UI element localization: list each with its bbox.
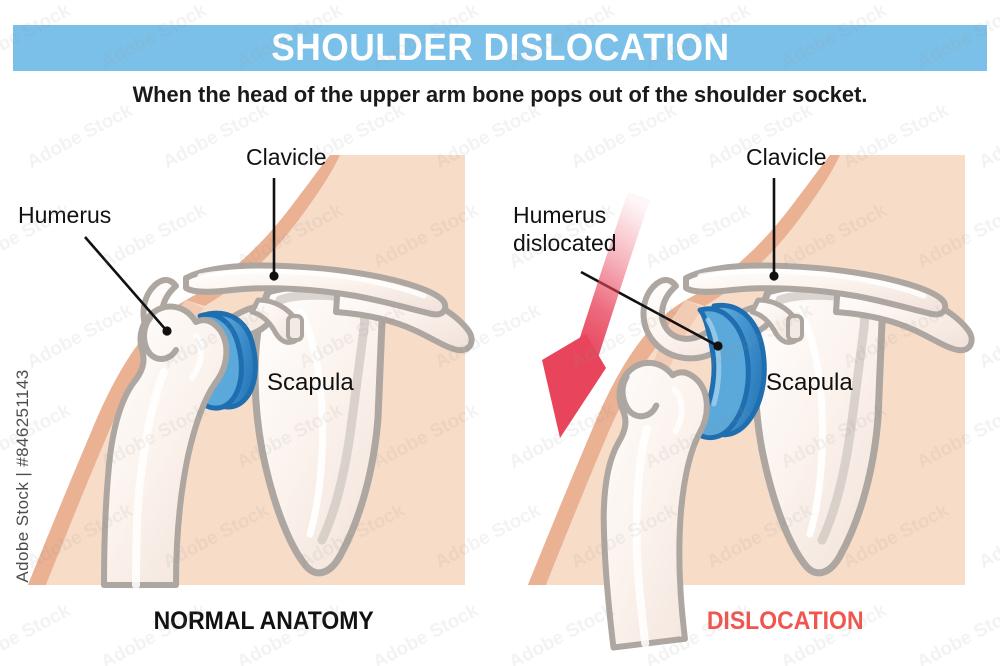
label-humerus-dislocated-line1: Humerus [513, 201, 617, 229]
page-title: SHOULDER DISLOCATION [271, 29, 729, 67]
label-clavicle-dislocated: Clavicle [746, 143, 827, 171]
label-clavicle-normal: Clavicle [246, 143, 327, 171]
caption-dislocation: DISLOCATION [707, 607, 864, 636]
title-banner: SHOULDER DISLOCATION [13, 25, 987, 71]
label-humerus-dislocated: Humerus dislocated [513, 201, 617, 257]
caption-normal-anatomy: NORMAL ANATOMY [154, 607, 374, 636]
label-scapula-normal: Scapula [267, 368, 354, 397]
infographic-root: SHOULDER DISLOCATION When the head of th… [0, 0, 1000, 666]
subtitle-text: When the head of the upper arm bone pops… [15, 82, 985, 108]
label-humerus-dislocated-line2: dislocated [513, 229, 617, 257]
label-humerus-normal: Humerus [18, 201, 111, 229]
label-scapula-dislocated: Scapula [766, 368, 853, 397]
